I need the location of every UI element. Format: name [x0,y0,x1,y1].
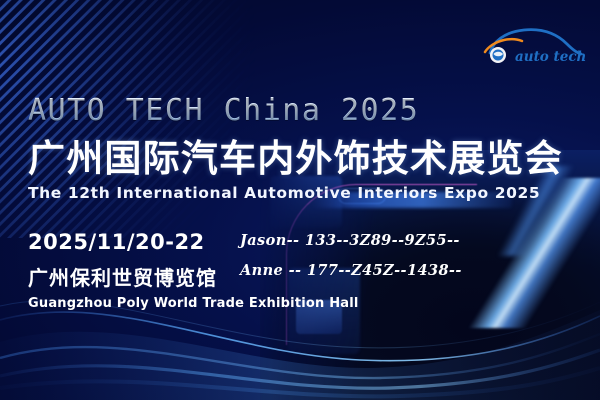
logo-text: auto tech [515,49,586,65]
event-venue-english: Guangzhou Poly World Trade Exhibition Ha… [28,296,359,311]
event-title-english: AUTO TECH China 2025 [28,96,588,126]
contact-jason: Jason-- 133--3Z89--9Z55-- [240,232,462,249]
auto-tech-logo[interactable]: auto tech [478,22,586,68]
contact-anne: Anne -- 177--Z45Z--1438-- [240,262,462,279]
event-subtitle-english: The 12th International Automotive Interi… [28,184,588,202]
auto-tech-china-2025-poster: auto tech AUTO TECH China 2025 广州国际汽车内外饰… [0,0,600,400]
contact-group: Jason-- 133--3Z89--9Z55-- Anne -- 177--Z… [240,232,462,279]
event-title-chinese: 广州国际汽车内外饰技术展览会 [28,140,588,178]
event-info-block: 2025/11/20-22 广州保利世贸博览馆 Guangzhou Poly W… [28,230,588,310]
poster-content: AUTO TECH China 2025 广州国际汽车内外饰技术展览会 The … [28,96,588,311]
